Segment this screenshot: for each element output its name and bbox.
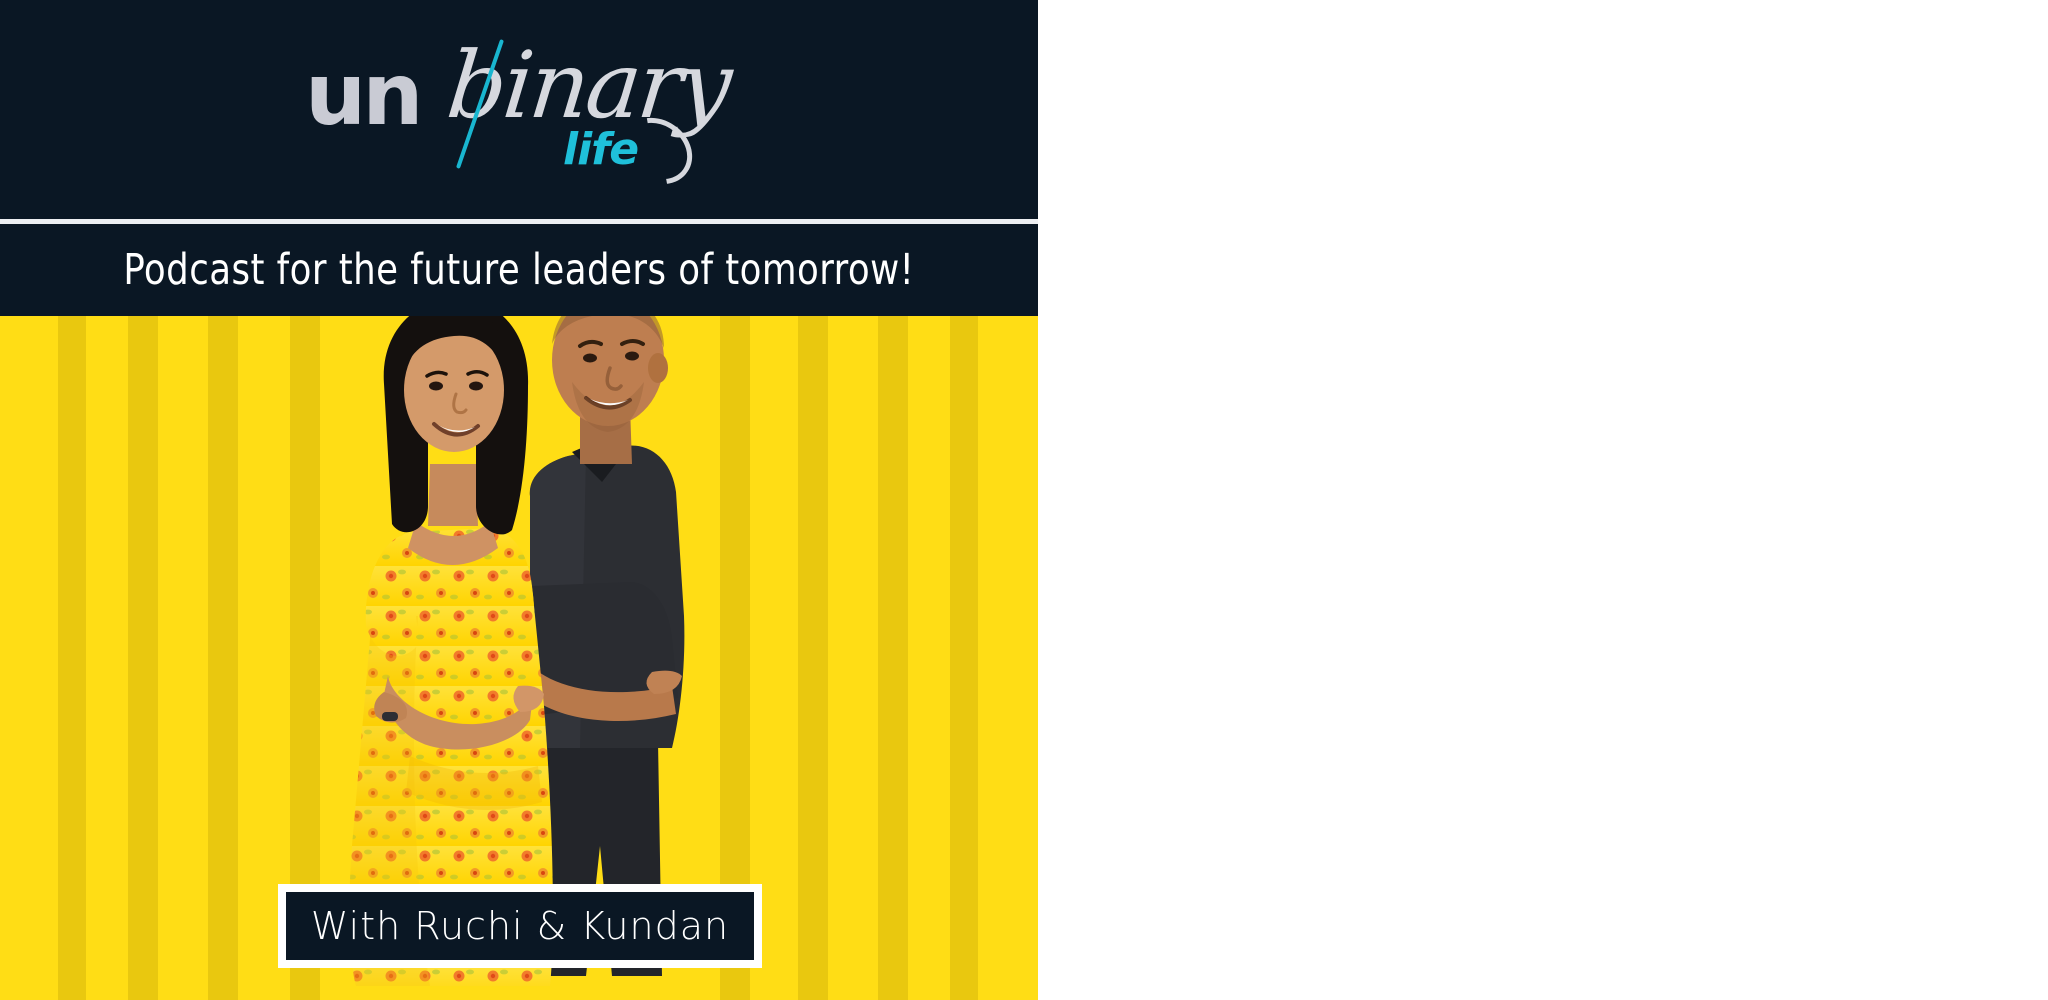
listen-notes-logo[interactable]: LISTENNOTES bbox=[1038, 770, 2048, 825]
cover-caption-inner: With Ruchi & Kundan bbox=[286, 892, 754, 960]
cover-caption-plaque: With Ruchi & Kundan bbox=[278, 884, 762, 968]
cover-artwork-body: With Ruchi & Kundan bbox=[0, 316, 1038, 1000]
cover-logo-header: un binary life bbox=[0, 0, 1038, 226]
cover-tagline-text: Podcast for the future leaders of tomorr… bbox=[124, 245, 915, 295]
cover-caption-text: With Ruchi & Kundan bbox=[311, 904, 729, 948]
unbinary-life-logo: un binary life bbox=[0, 0, 1038, 226]
listen-notes-panel: Podcaster Interview LISTENNOTES bbox=[1038, 0, 2048, 1000]
podcast-cover-art: un binary life Podcast for the future le… bbox=[0, 0, 1038, 1000]
logo-text-life: life bbox=[563, 128, 638, 172]
cover-tagline-bar: Podcast for the future leaders of tomorr… bbox=[0, 224, 1038, 316]
screenshot-root: un binary life Podcast for the future le… bbox=[0, 0, 2048, 1000]
logo-text-un: un bbox=[305, 52, 419, 138]
